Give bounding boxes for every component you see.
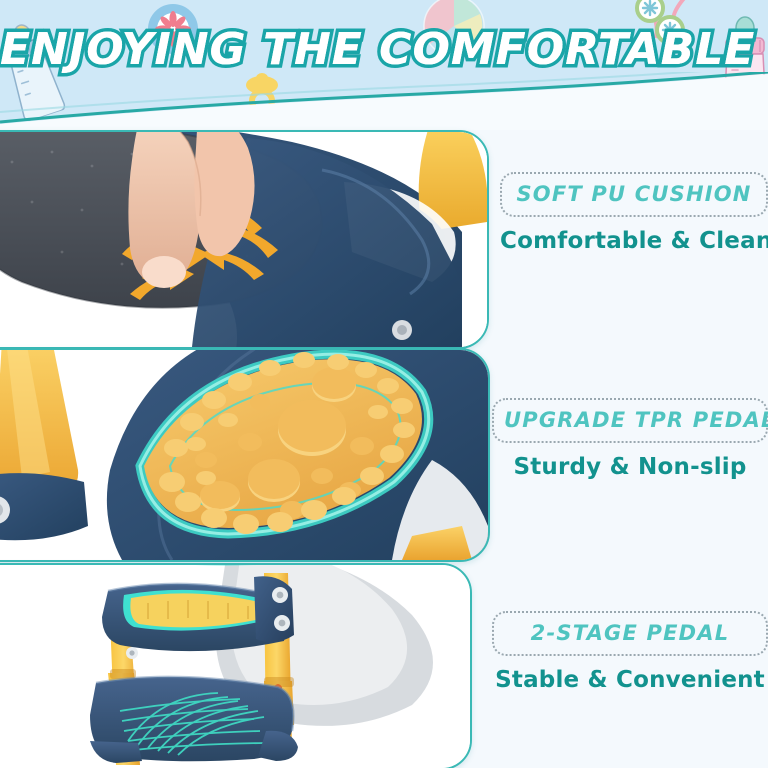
feature-caption-upgrade-tpr-pedal: Upgrade TPR Pedal Sturdy & Non-slip bbox=[492, 398, 768, 480]
feature-title-2-stage-pedal: 2-Stage Pedal bbox=[504, 622, 756, 644]
feature-row-2-stage-pedal: 2-Stage Pedal Stable & Convenient bbox=[0, 563, 768, 768]
feature-caption-soft-pu-cushion: Soft PU Cushion Comfortable & Clean bbox=[500, 172, 768, 254]
product-infographic: Enjoying the Comfortable Product Enjoyin… bbox=[0, 0, 768, 768]
feature-caption-2-stage-pedal: 2-Stage Pedal Stable & Convenient bbox=[492, 611, 768, 693]
feature-subtitle-soft-pu-cushion: Comfortable & Clean bbox=[500, 228, 768, 254]
feature-title-box-upgrade-tpr-pedal: Upgrade TPR Pedal bbox=[492, 398, 768, 443]
feature-subtitle-2-stage-pedal: Stable & Convenient bbox=[492, 667, 768, 693]
feature-photo-upgrade-tpr-pedal bbox=[0, 348, 490, 562]
feature-row-soft-pu-cushion: Soft PU Cushion Comfortable & Clean bbox=[0, 130, 768, 345]
feature-title-box-soft-pu-cushion: Soft PU Cushion bbox=[500, 172, 768, 217]
page-title-outline: Enjoying the Comfortable Product bbox=[0, 18, 768, 82]
feature-photo-soft-pu-cushion bbox=[0, 130, 489, 349]
feature-row-upgrade-tpr-pedal: Upgrade TPR Pedal Sturdy & Non-slip bbox=[0, 348, 768, 560]
feature-title-soft-pu-cushion: Soft PU Cushion bbox=[512, 183, 756, 205]
feature-photo-2-stage-pedal bbox=[0, 563, 472, 768]
feature-title-upgrade-tpr-pedal: Upgrade TPR Pedal bbox=[504, 409, 756, 431]
feature-title-box-2-stage-pedal: 2-Stage Pedal bbox=[492, 611, 768, 656]
header-banner: Enjoying the Comfortable Product Enjoyin… bbox=[0, 0, 768, 130]
feature-subtitle-upgrade-tpr-pedal: Sturdy & Non-slip bbox=[492, 454, 768, 480]
